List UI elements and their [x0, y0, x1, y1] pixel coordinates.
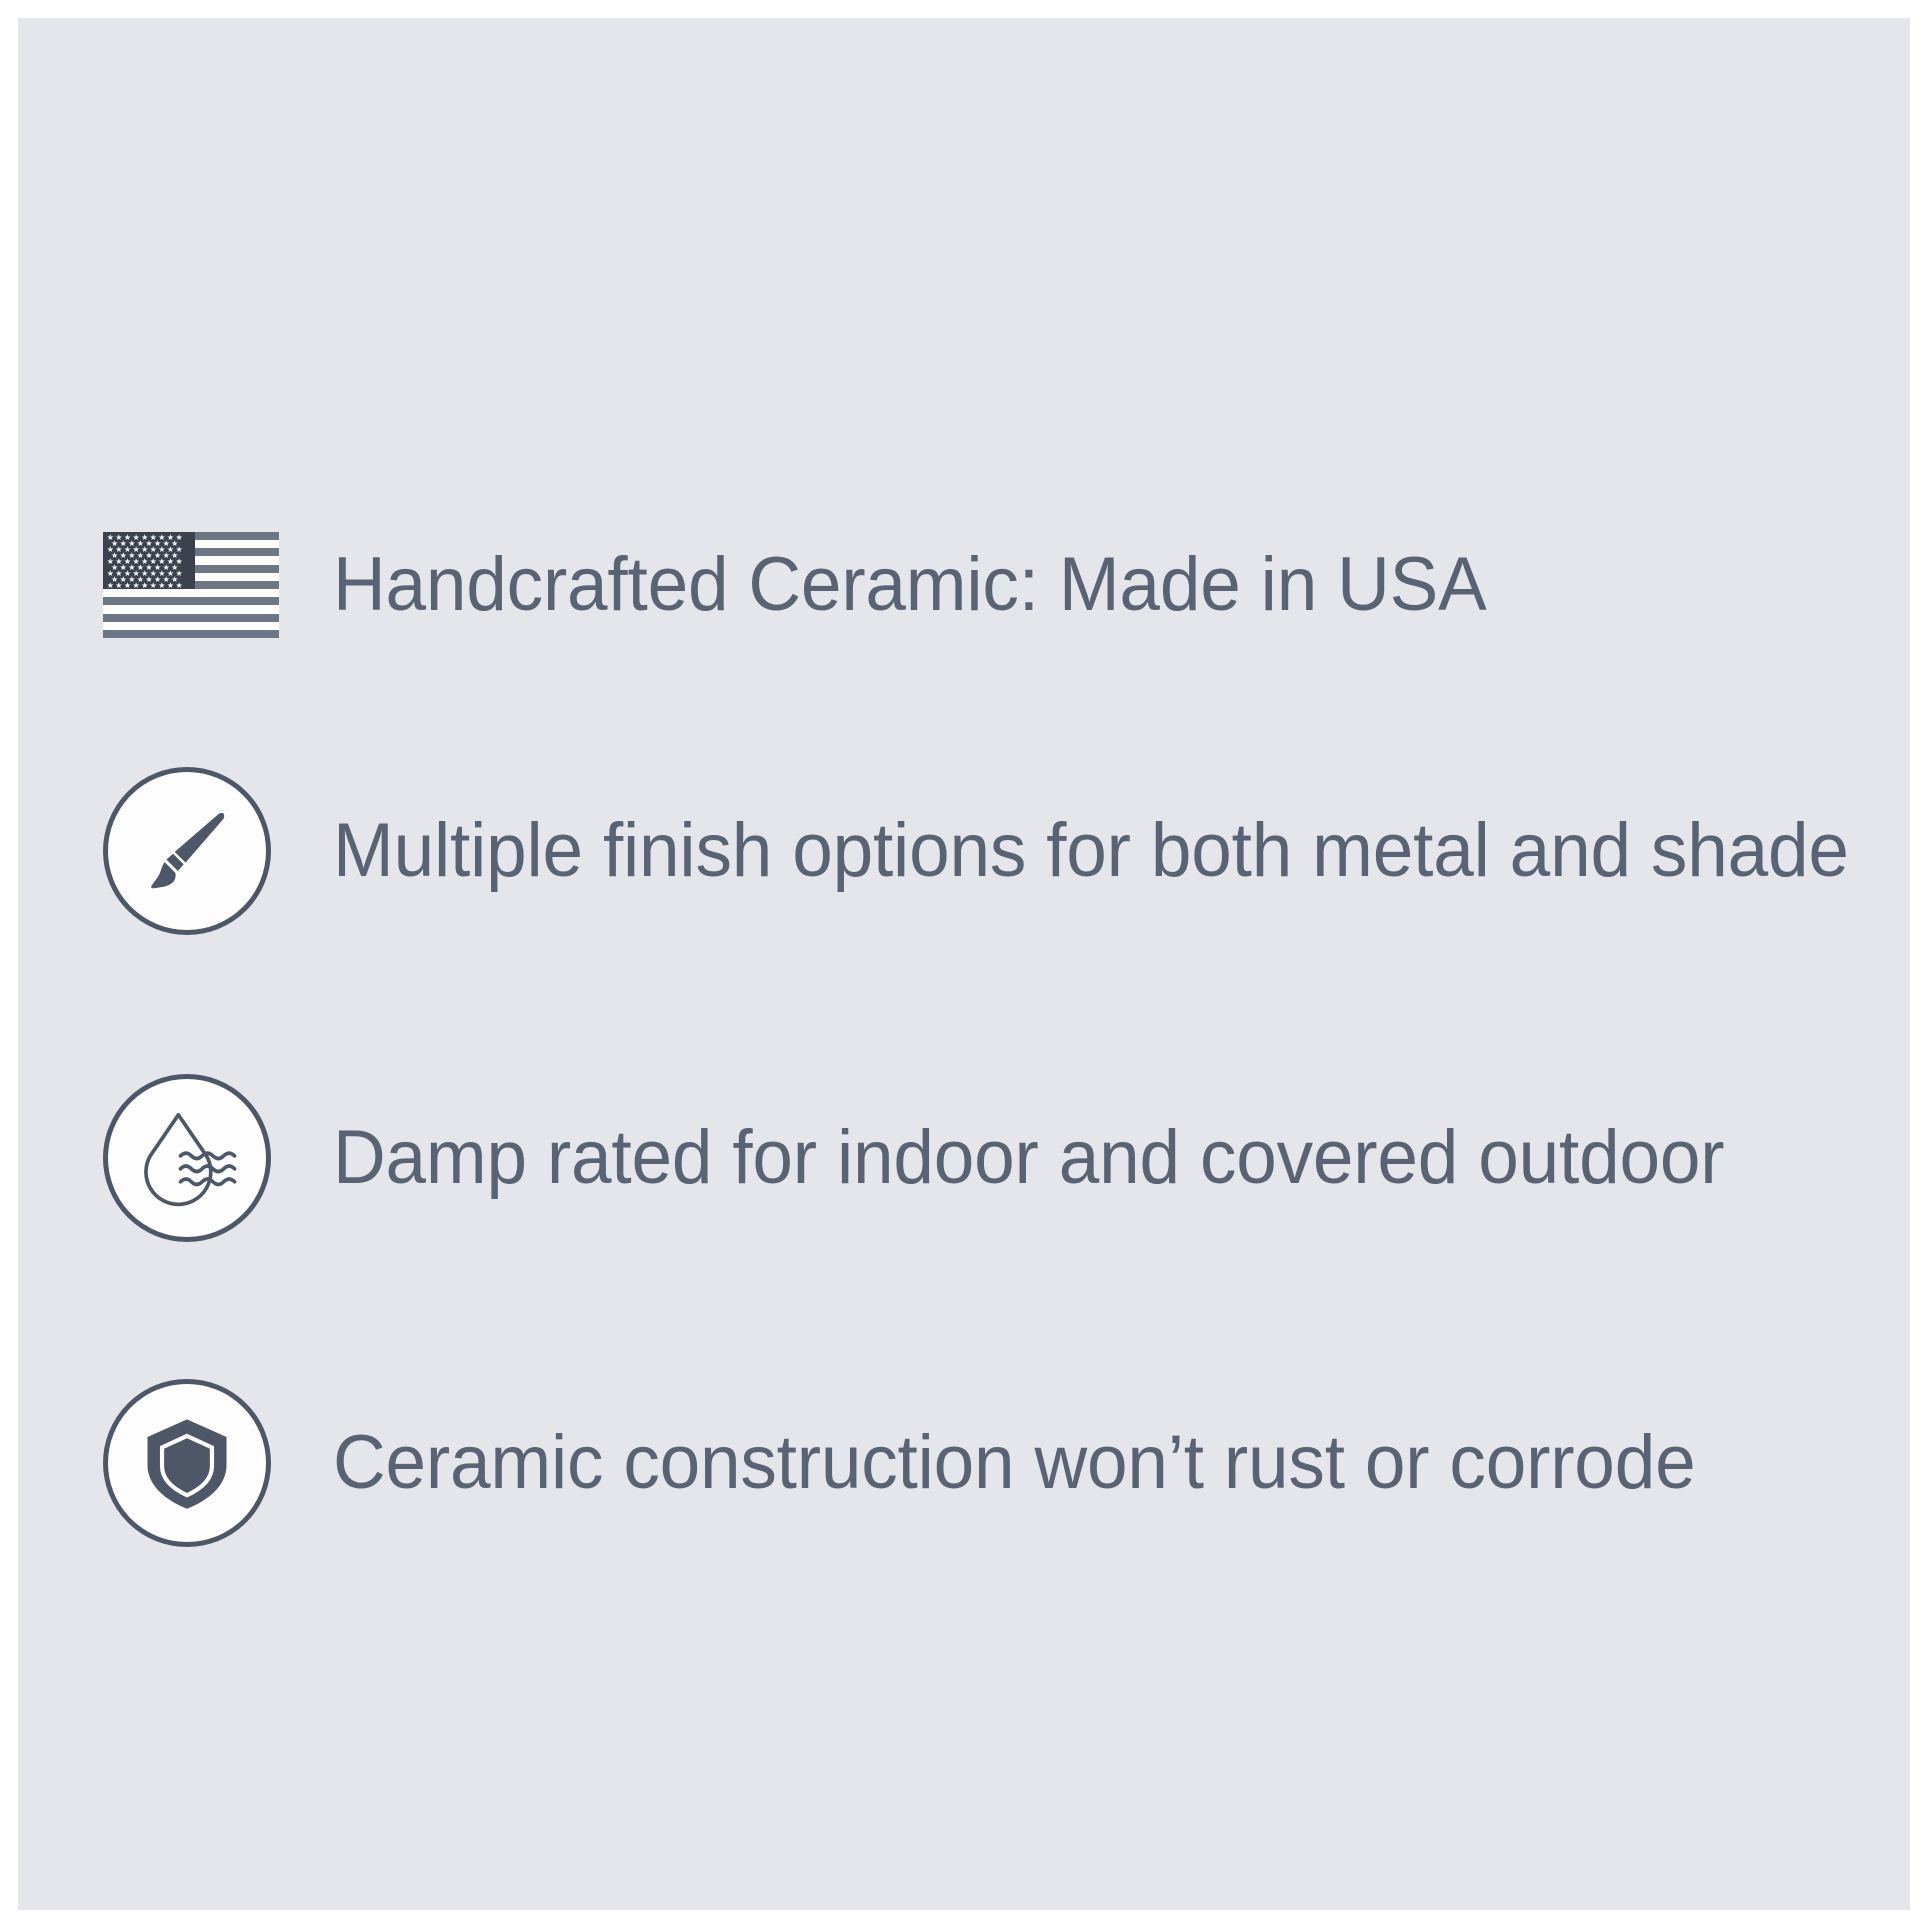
feature-text: Ceramic construction won’t rust or corro…	[333, 1423, 1695, 1503]
feature-text: Multiple finish options for both metal a…	[333, 811, 1849, 891]
feature-text: Damp rated for indoor and covered outdoo…	[333, 1118, 1724, 1198]
product-feature-card: ★★★★★★★★★ ★★★★★★★★ ★★★★★★★★★ ★★★★★★★★ ★★…	[18, 18, 1910, 1910]
feature-icon-slot	[103, 1363, 333, 1563]
water-drop-waves-icon	[103, 1074, 271, 1242]
feature-row: Damp rated for indoor and covered outdoo…	[103, 1058, 1883, 1258]
shield-icon	[103, 1379, 271, 1547]
feature-text: Handcrafted Ceramic: Made in USA	[333, 545, 1487, 625]
feature-row: Multiple finish options for both metal a…	[103, 751, 1883, 951]
flag-stars: ★★★★★★★★★ ★★★★★★★★ ★★★★★★★★★ ★★★★★★★★ ★★…	[103, 532, 195, 589]
feature-icon-slot	[103, 1058, 333, 1258]
feature-icon-slot: ★★★★★★★★★ ★★★★★★★★ ★★★★★★★★★ ★★★★★★★★ ★★…	[103, 515, 333, 655]
us-flag-icon: ★★★★★★★★★ ★★★★★★★★ ★★★★★★★★★ ★★★★★★★★ ★★…	[103, 532, 279, 638]
feature-row: ★★★★★★★★★ ★★★★★★★★ ★★★★★★★★★ ★★★★★★★★ ★★…	[103, 515, 1883, 655]
paintbrush-icon	[103, 767, 271, 935]
feature-list: ★★★★★★★★★ ★★★★★★★★ ★★★★★★★★★ ★★★★★★★★ ★★…	[18, 18, 1910, 1910]
feature-row: Ceramic construction won’t rust or corro…	[103, 1363, 1883, 1563]
feature-icon-slot	[103, 751, 333, 951]
